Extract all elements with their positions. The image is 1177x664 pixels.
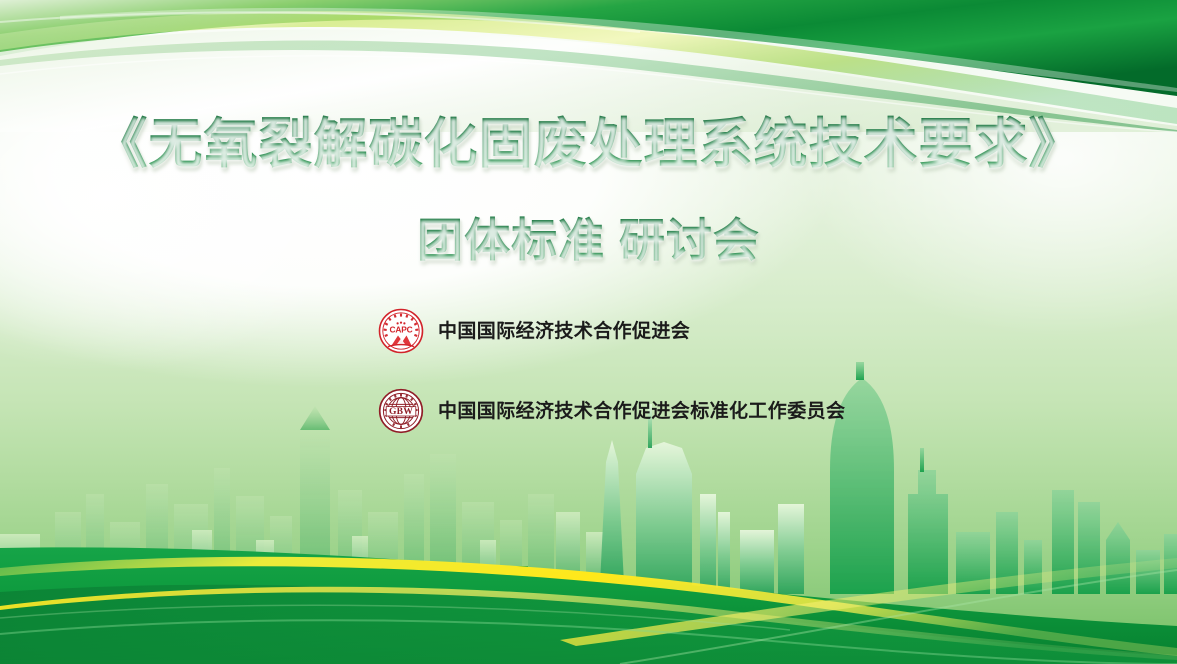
presentation-title-slide: 《无氧裂解碳化固废处理系统技术要求》 团体标准 研讨会 bbox=[0, 0, 1177, 664]
gbw-seal-icon: GBW bbox=[378, 388, 424, 434]
organization-name: 中国国际经济技术合作促进会标准化工作委员会 bbox=[438, 402, 845, 421]
page-title: 《无氧裂解碳化固废处理系统技术要求》 bbox=[0, 112, 1177, 178]
slide-content: 《无氧裂解碳化固废处理系统技术要求》 团体标准 研讨会 bbox=[0, 0, 1177, 664]
organization-list: CAPC 中国国际经济技术合作促进会 bbox=[378, 306, 1138, 436]
organization-row: GBW 中国国际经济技术合作促进会标准化工作委员会 bbox=[378, 386, 1138, 436]
svg-text:CAPC: CAPC bbox=[390, 325, 413, 335]
capc-seal-icon: CAPC bbox=[378, 308, 424, 354]
svg-text:GBW: GBW bbox=[389, 406, 413, 417]
page-subtitle: 团体标准 研讨会 bbox=[0, 204, 1177, 270]
organization-row: CAPC 中国国际经济技术合作促进会 bbox=[378, 306, 1138, 356]
organization-name: 中国国际经济技术合作促进会 bbox=[438, 322, 690, 341]
